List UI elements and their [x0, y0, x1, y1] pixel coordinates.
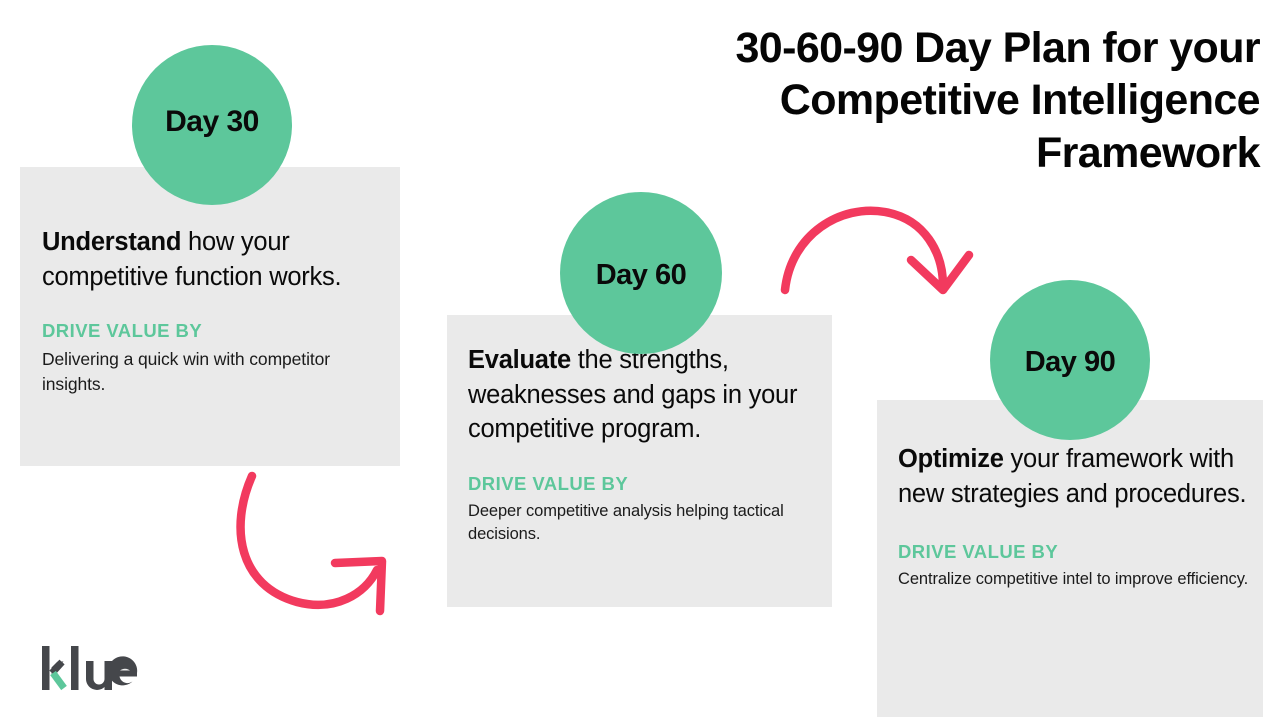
card-headline-day-60: Evaluate the strengths, weaknesses and g… [468, 343, 818, 447]
klue-logo-letter-u [86, 661, 112, 690]
day-badge-60-label: Day 60 [596, 259, 687, 292]
card-headline-day-90: Optimize your framework with new strateg… [898, 442, 1249, 511]
card-headline-emphasis-day-90: Optimize [898, 445, 1004, 473]
drive-value-body-day-90: Centralize competitive intel to improve … [898, 568, 1249, 591]
milestone-card-day-90: Optimize your framework with new strateg… [877, 400, 1263, 717]
klue-logo [42, 646, 142, 692]
day-badge-30-label: Day 30 [165, 105, 259, 139]
milestone-card-day-30: Understand how your competitive function… [20, 167, 400, 466]
arrow-day60-to-day90-icon [775, 198, 985, 313]
drive-value-label-day-90: DRIVE VALUE BY [898, 541, 1249, 563]
milestone-card-day-60: Evaluate the strengths, weaknesses and g… [447, 315, 832, 607]
drive-value-body-day-30: Delivering a quick win with competitor i… [42, 347, 384, 397]
card-content-day-90: Optimize your framework with new strateg… [898, 442, 1249, 592]
day-badge-90-label: Day 90 [1025, 346, 1116, 379]
day-badge-90: Day 90 [990, 280, 1150, 440]
drive-value-body-day-60: Deeper competitive analysis helping tact… [468, 500, 818, 547]
page-title: 30-60-90 Day Plan for your Competitive I… [560, 22, 1260, 179]
klue-logo-letter-e [108, 656, 137, 685]
card-headline-emphasis-day-60: Evaluate [468, 346, 571, 374]
drive-value-label-day-30: DRIVE VALUE BY [42, 320, 384, 342]
klue-logo-k-lower-diagonal-accent [53, 673, 64, 688]
klue-logo-k-stem [42, 646, 50, 690]
klue-logo-letter-l [71, 646, 79, 690]
infographic-canvas: 30-60-90 Day Plan for your Competitive I… [0, 0, 1278, 717]
arrow-day30-to-day60-icon [225, 468, 415, 628]
day-badge-60: Day 60 [560, 192, 722, 354]
card-headline-day-30: Understand how your competitive function… [42, 225, 384, 294]
card-content-day-30: Understand how your competitive function… [42, 225, 384, 397]
klue-logo-k-upper-stroke [52, 662, 62, 673]
day-badge-30: Day 30 [132, 45, 292, 205]
card-headline-emphasis-day-30: Understand [42, 228, 181, 256]
drive-value-label-day-60: DRIVE VALUE BY [468, 473, 818, 495]
card-content-day-60: Evaluate the strengths, weaknesses and g… [468, 343, 818, 547]
